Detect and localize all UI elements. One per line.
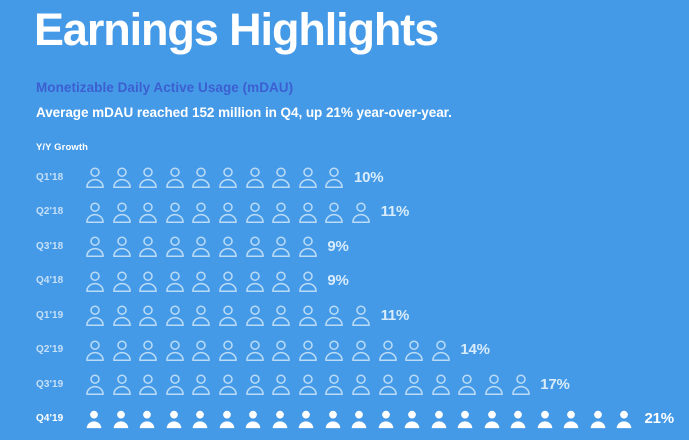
person-icon xyxy=(138,304,158,326)
icon-group xyxy=(85,339,457,361)
person-icon xyxy=(298,270,318,292)
table-row: Q3'1917% xyxy=(0,367,689,402)
person-icon xyxy=(511,373,531,395)
person-icon xyxy=(457,373,477,395)
person-icon xyxy=(218,409,236,429)
icon-group xyxy=(85,409,642,429)
person-icon xyxy=(191,409,209,429)
person-icon xyxy=(85,304,105,326)
person-icon xyxy=(85,409,103,429)
person-icon xyxy=(298,304,318,326)
table-row: Q1'1810% xyxy=(0,160,689,195)
table-row: Q2'1914% xyxy=(0,333,689,368)
person-icon xyxy=(112,166,132,188)
person-icon xyxy=(85,270,105,292)
person-icon xyxy=(298,373,318,395)
value-label-6: 17% xyxy=(540,376,569,393)
person-icon xyxy=(351,201,371,223)
person-icon xyxy=(456,409,474,429)
person-icon xyxy=(112,409,130,429)
person-icon xyxy=(245,339,265,361)
person-icon xyxy=(85,339,105,361)
icon-group xyxy=(85,304,378,326)
person-icon xyxy=(430,409,448,429)
person-icon xyxy=(351,373,371,395)
value-label-4: 11% xyxy=(381,307,410,324)
person-icon xyxy=(271,270,291,292)
person-icon xyxy=(377,409,395,429)
person-icon xyxy=(271,373,291,395)
person-icon xyxy=(218,166,238,188)
icon-group xyxy=(85,270,324,292)
table-row: Q1'1911% xyxy=(0,298,689,333)
person-icon xyxy=(403,409,421,429)
pictogram-chart: Q1'1810%Q2'1811%Q3'189%Q4'189%Q1'1911%Q2… xyxy=(0,160,689,436)
person-icon xyxy=(245,235,265,257)
person-icon xyxy=(165,270,185,292)
value-label-5: 14% xyxy=(460,341,489,358)
person-icon xyxy=(191,166,211,188)
row-label-6: Q3'19 xyxy=(36,379,80,390)
earnings-highlights-slide: Earnings Highlights Monetizable Daily Ac… xyxy=(0,0,689,440)
person-icon xyxy=(165,304,185,326)
person-icon xyxy=(112,373,132,395)
person-icon xyxy=(138,201,158,223)
person-icon xyxy=(509,409,527,429)
person-icon xyxy=(297,409,315,429)
row-label-2: Q3'18 xyxy=(36,241,80,252)
person-icon xyxy=(271,339,291,361)
person-icon xyxy=(138,409,156,429)
person-icon xyxy=(404,339,424,361)
y-axis-label: Y/Y Growth xyxy=(36,142,88,153)
person-icon xyxy=(218,339,238,361)
person-icon xyxy=(536,409,554,429)
person-icon xyxy=(271,201,291,223)
person-icon xyxy=(562,409,580,429)
person-icon xyxy=(218,201,238,223)
person-icon xyxy=(271,409,289,429)
person-icon xyxy=(112,201,132,223)
table-row: Q4'189% xyxy=(0,264,689,299)
person-icon xyxy=(218,270,238,292)
person-icon xyxy=(138,235,158,257)
person-icon xyxy=(85,373,105,395)
person-icon xyxy=(191,235,211,257)
person-icon xyxy=(191,304,211,326)
person-icon xyxy=(165,339,185,361)
person-icon xyxy=(112,235,132,257)
table-row: Q4'1921% xyxy=(0,402,689,437)
row-label-4: Q1'19 xyxy=(36,310,80,321)
person-icon xyxy=(378,373,398,395)
value-label-1: 11% xyxy=(381,203,410,220)
section-subhead: Monetizable Daily Active Usage (mDAU) xyxy=(36,80,293,95)
person-icon xyxy=(589,409,607,429)
person-icon xyxy=(218,373,238,395)
person-icon xyxy=(324,373,344,395)
person-icon xyxy=(165,373,185,395)
person-icon xyxy=(483,409,501,429)
person-icon xyxy=(191,339,211,361)
person-icon xyxy=(245,270,265,292)
page-title: Earnings Highlights xyxy=(34,2,438,58)
person-icon xyxy=(191,373,211,395)
person-icon xyxy=(271,166,291,188)
person-icon xyxy=(298,235,318,257)
person-icon xyxy=(298,201,318,223)
icon-group xyxy=(85,235,324,257)
person-icon xyxy=(298,339,318,361)
person-icon xyxy=(138,270,158,292)
person-icon xyxy=(244,409,262,429)
value-label-2: 9% xyxy=(327,238,348,255)
row-label-5: Q2'19 xyxy=(36,344,80,355)
table-row: Q2'1811% xyxy=(0,195,689,230)
row-label-3: Q4'18 xyxy=(36,275,80,286)
value-label-0: 10% xyxy=(354,169,383,186)
person-icon xyxy=(271,235,291,257)
person-icon xyxy=(324,304,344,326)
value-label-7: 21% xyxy=(645,410,674,427)
person-icon xyxy=(165,235,185,257)
person-icon xyxy=(378,339,398,361)
person-icon xyxy=(138,166,158,188)
person-icon xyxy=(324,339,344,361)
row-label-7: Q4'19 xyxy=(36,413,80,424)
person-icon xyxy=(165,166,185,188)
row-label-0: Q1'18 xyxy=(36,172,80,183)
person-icon xyxy=(218,235,238,257)
person-icon xyxy=(245,166,265,188)
person-icon xyxy=(112,339,132,361)
person-icon xyxy=(112,270,132,292)
icon-group xyxy=(85,166,351,188)
person-icon xyxy=(138,339,158,361)
person-icon xyxy=(615,409,633,429)
person-icon xyxy=(351,304,371,326)
person-icon xyxy=(484,373,504,395)
value-label-3: 9% xyxy=(327,272,348,289)
person-icon xyxy=(112,304,132,326)
person-icon xyxy=(324,166,344,188)
person-icon xyxy=(85,166,105,188)
person-icon xyxy=(271,304,291,326)
icon-group xyxy=(85,201,378,223)
table-row: Q3'189% xyxy=(0,229,689,264)
person-icon xyxy=(245,373,265,395)
person-icon xyxy=(218,304,238,326)
person-icon xyxy=(245,304,265,326)
person-icon xyxy=(138,373,158,395)
person-icon xyxy=(191,270,211,292)
person-icon xyxy=(324,201,344,223)
person-icon xyxy=(165,201,185,223)
person-icon xyxy=(324,409,342,429)
person-icon xyxy=(165,409,183,429)
person-icon xyxy=(85,201,105,223)
person-icon xyxy=(298,166,318,188)
person-icon xyxy=(431,373,451,395)
person-icon xyxy=(350,409,368,429)
person-icon xyxy=(404,373,424,395)
person-icon xyxy=(85,235,105,257)
person-icon xyxy=(351,339,371,361)
person-icon xyxy=(431,339,451,361)
person-icon xyxy=(245,201,265,223)
icon-group xyxy=(85,373,537,395)
section-lede: Average mDAU reached 152 million in Q4, … xyxy=(36,105,452,120)
person-icon xyxy=(191,201,211,223)
row-label-1: Q2'18 xyxy=(36,206,80,217)
